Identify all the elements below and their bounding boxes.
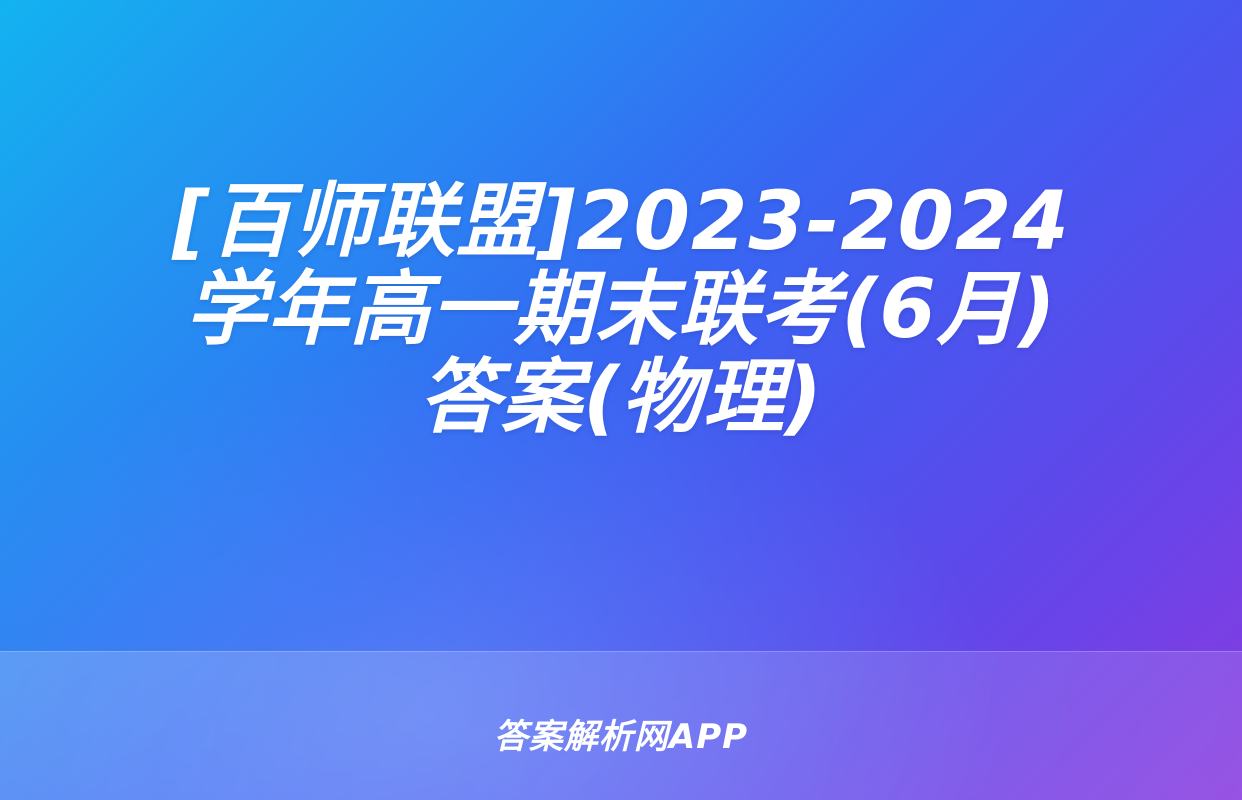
title-line-3: 答案(物理)	[44, 354, 1198, 442]
title-line-1: [百师联盟]2023-2024	[44, 178, 1198, 266]
poster-title-block: [百师联盟]2023-2024 学年高一期末联考(6月) 答案(物理)	[0, 178, 1242, 442]
poster-canvas: [百师联盟]2023-2024 学年高一期末联考(6月) 答案(物理) 答案解析…	[0, 0, 1242, 800]
title-line-2: 学年高一期末联考(6月)	[44, 266, 1198, 354]
app-watermark-label: 答案解析网APP	[0, 709, 1242, 758]
footer-band: 答案解析网APP	[0, 651, 1242, 800]
